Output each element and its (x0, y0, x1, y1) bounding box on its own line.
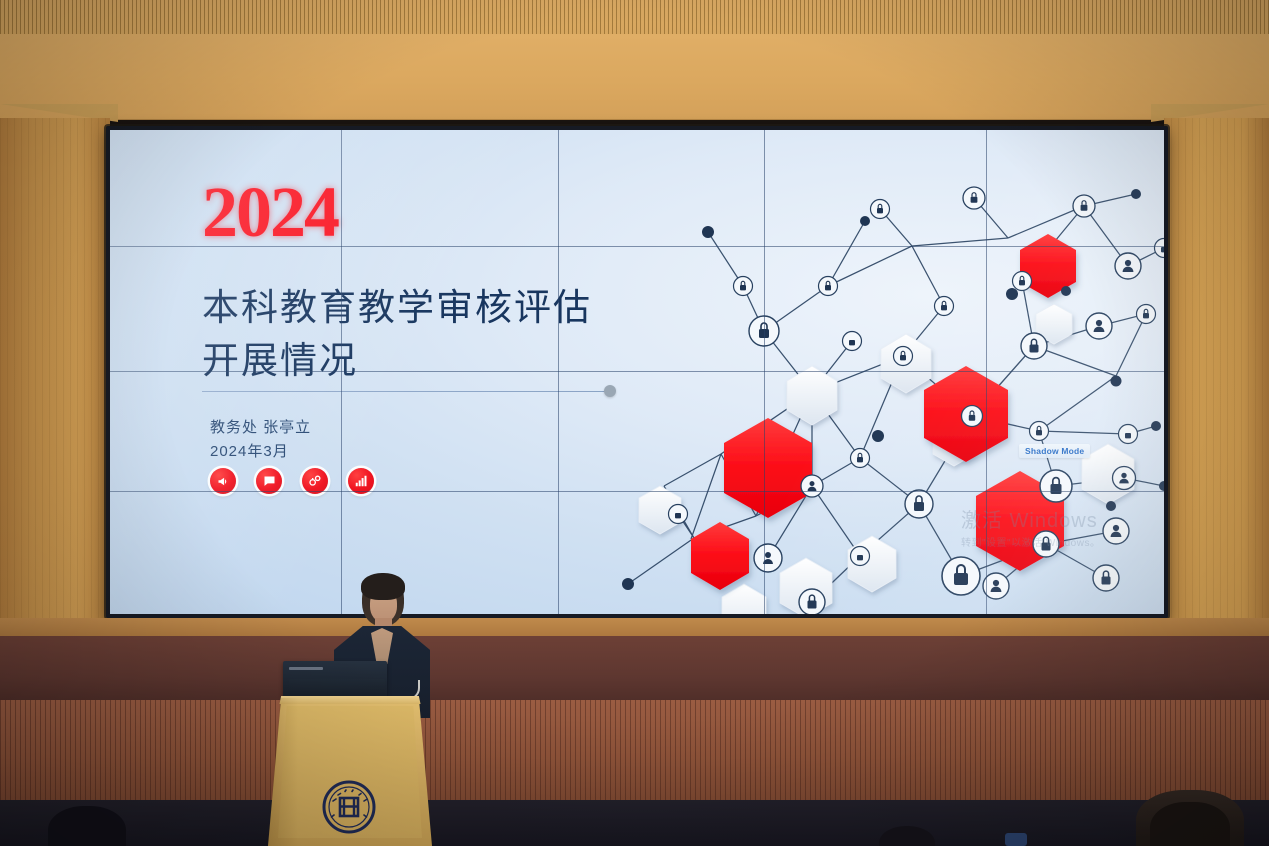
slide-presenter: 教务处 张亭立 (210, 416, 311, 437)
audience-object-blue (1005, 833, 1027, 846)
lower-wall-slats (0, 700, 1269, 804)
headline-line-1: 本科教育教学审核评估 (202, 282, 762, 335)
slide-date: 2024年3月 (210, 440, 289, 461)
video-wall-seam-v1 (341, 130, 342, 614)
university-seal-emblem (321, 779, 377, 835)
wood-column-right (1164, 118, 1269, 638)
photo-scene: Shadow Mode 激活 Windows 转到"设置"以激活 Windows… (0, 0, 1269, 846)
video-wall-seam-h3 (110, 491, 1164, 492)
video-wall-seam-h2 (110, 371, 1164, 372)
video-wall-seam-v2 (558, 130, 559, 614)
stage-floor (0, 800, 1269, 846)
headline-line-2: 开展情况 (202, 335, 762, 388)
shadow-mode-label: Shadow Mode (1019, 444, 1090, 458)
video-wall-seam-v4 (986, 130, 987, 614)
upper-wall-slats (0, 0, 1269, 36)
slide-year: 2024 (202, 176, 338, 248)
lower-wall-dark (0, 636, 1269, 704)
video-wall-seam-h1 (110, 246, 1164, 247)
slide-divider-dot (604, 385, 616, 397)
audience-head-left (48, 806, 126, 846)
video-wall-screen[interactable]: Shadow Mode 激活 Windows 转到"设置"以激活 Windows… (110, 130, 1164, 614)
presentation-slide: Shadow Mode 激活 Windows 转到"设置"以激活 Windows… (110, 130, 1164, 614)
network-graphic: Shadow Mode 激活 Windows 转到"设置"以激活 Windows… (616, 186, 1164, 614)
video-wall-seam-v3 (764, 130, 765, 614)
slide-divider-rule (202, 391, 608, 392)
video-wall-frame: Shadow Mode 激活 Windows 转到"设置"以激活 Windows… (106, 126, 1168, 618)
wood-column-left (0, 118, 110, 628)
audience-head-right-near (1136, 790, 1244, 846)
presenter-hair (361, 573, 405, 600)
upper-wall-panel (0, 34, 1269, 120)
